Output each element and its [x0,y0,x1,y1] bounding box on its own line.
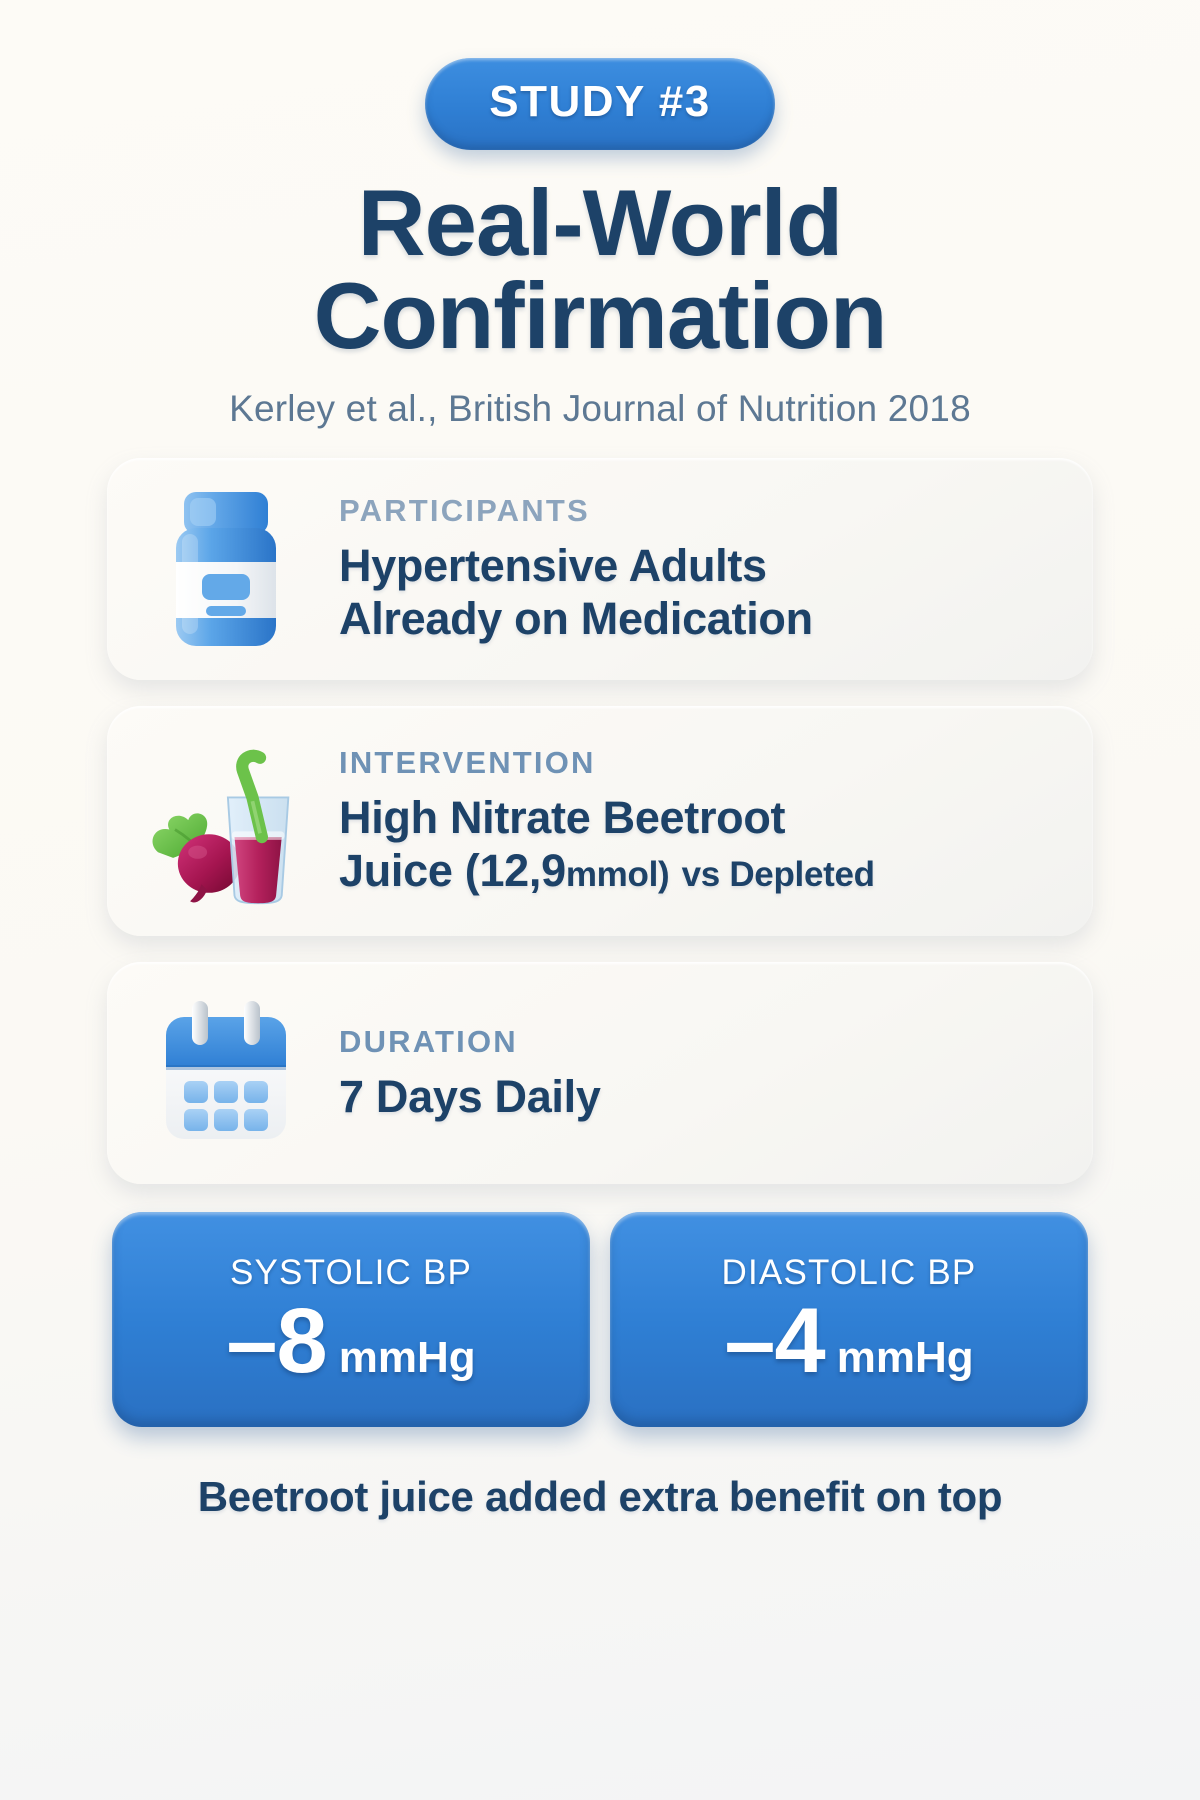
card-participants-body: PARTICIPANTS Hypertensive Adults Already… [339,493,813,645]
card-duration-eyebrow: DURATION [339,1024,601,1060]
card-intervention-text: High Nitrate Beetroot Juice (12,9mmol) v… [339,791,875,897]
card-duration-text: 7 Days Daily [339,1070,601,1123]
stat-systolic-label: SYSTOLIC BP [230,1253,472,1293]
infographic-root: STUDY #3 Real-World Confirmation Kerley … [0,0,1200,1800]
card-participants-line-2: Already on Medication [339,592,813,645]
card-intervention: INTERVENTION High Nitrate Beetroot Juice… [107,706,1093,936]
study-badge: STUDY #3 [425,58,775,150]
stat-diastolic-label: DIASTOLIC BP [722,1253,977,1293]
card-duration-body: DURATION 7 Days Daily [339,1024,601,1123]
calendar-icon [141,988,311,1158]
beetroot-juice-icon [141,736,311,906]
page-title-line-1: Real-World [314,176,887,269]
stat-diastolic-value: –4 mmHg [724,1295,973,1387]
card-intervention-comparator: vs Depleted [682,855,875,894]
stat-systolic-bp: SYSTOLIC BP –8 mmHg [112,1212,590,1427]
card-duration-line-1: 7 Days Daily [339,1070,601,1123]
footer-takeaway: Beetroot juice added extra benefit on to… [198,1473,1002,1521]
page-title: Real-World Confirmation [314,176,887,362]
stat-diastolic-bp: DIASTOLIC BP –4 mmHg [610,1212,1088,1427]
stat-diastolic-number: –4 [724,1295,824,1387]
card-participants-text: Hypertensive Adults Already on Medicatio… [339,539,813,645]
card-participants-line-1: Hypertensive Adults [339,539,813,592]
card-intervention-body: INTERVENTION High Nitrate Beetroot Juice… [339,745,875,897]
citation-subtitle: Kerley et al., British Journal of Nutrit… [229,388,971,430]
outcome-stat-row: SYSTOLIC BP –8 mmHg DIASTOLIC BP –4 mmHg [100,1212,1100,1427]
card-intervention-dose-unit: mmol) [566,855,670,894]
pill-bottle-icon [141,484,311,654]
card-intervention-line-2: Juice (12,9mmol) vs Depleted [339,844,875,897]
card-participants: PARTICIPANTS Hypertensive Adults Already… [107,458,1093,680]
detail-card-list: PARTICIPANTS Hypertensive Adults Already… [100,458,1100,1184]
stat-systolic-number: –8 [226,1295,326,1387]
page-title-line-2: Confirmation [314,269,887,362]
study-badge-wrapper: STUDY #3 [425,58,775,150]
card-intervention-eyebrow: INTERVENTION [339,745,875,781]
stat-diastolic-unit: mmHg [837,1333,974,1383]
stat-systolic-unit: mmHg [339,1333,476,1383]
card-intervention-dose: Juice (12,9 [339,845,566,896]
card-participants-eyebrow: PARTICIPANTS [339,493,813,529]
card-duration: DURATION 7 Days Daily [107,962,1093,1184]
stat-systolic-value: –8 mmHg [226,1295,475,1387]
card-intervention-line-1: High Nitrate Beetroot [339,791,875,844]
